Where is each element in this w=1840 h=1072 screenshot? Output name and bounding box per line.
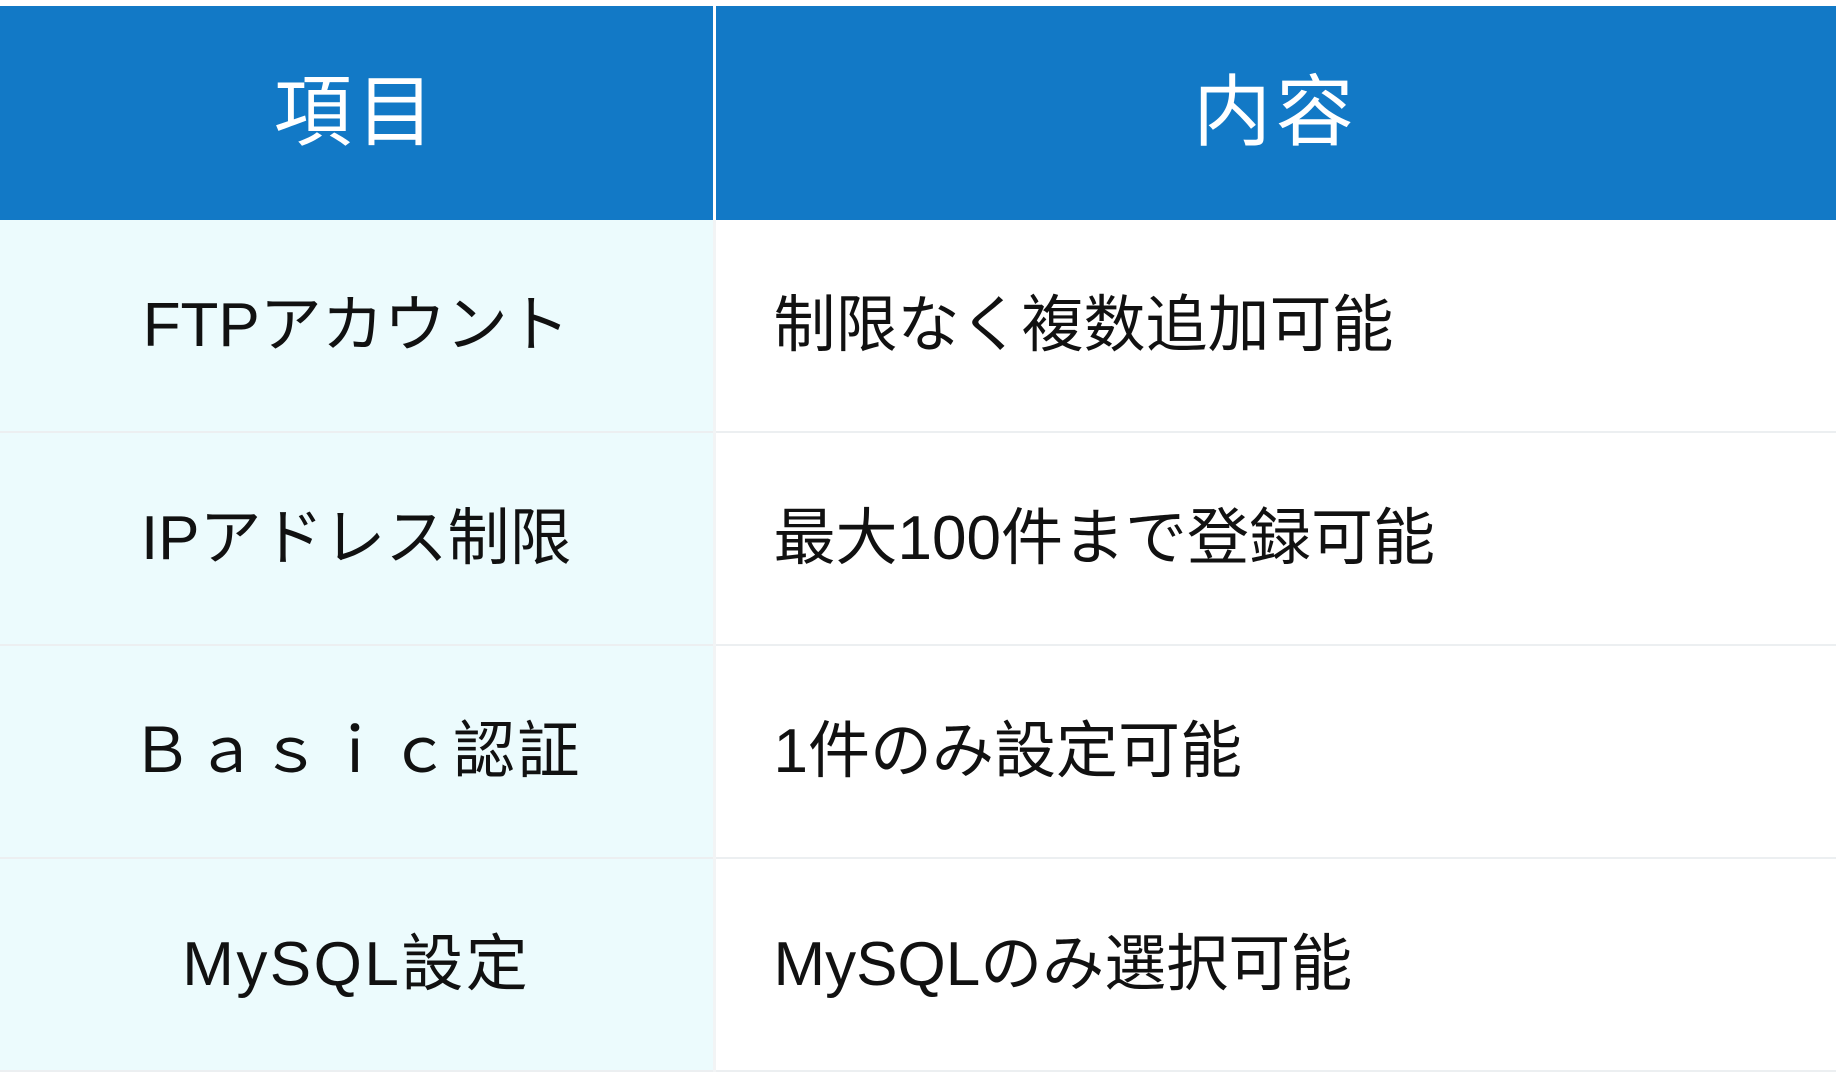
cell-content-text: 制限なく複数追加可能 bbox=[774, 290, 1394, 361]
specification-table: 項目 内容 FTPアカウント 制限なく複数追加可能 IPアドレス制限 最大100… bbox=[0, 6, 1836, 1072]
cell-item-text: FTPアカウント bbox=[143, 290, 570, 361]
table-body: FTPアカウント 制限なく複数追加可能 IPアドレス制限 最大100件まで登録可… bbox=[0, 220, 1836, 1071]
column-header-content: 内容 bbox=[714, 6, 1836, 220]
cell-content: MySQLのみ選択可能 bbox=[714, 858, 1836, 1071]
cell-item: Ｂａｓｉｃ認証 bbox=[0, 645, 714, 858]
cell-content-text: MySQLのみ選択可能 bbox=[774, 929, 1353, 1000]
cell-item: MySQL設定 bbox=[0, 858, 714, 1071]
table-row: Ｂａｓｉｃ認証 1件のみ設定可能 bbox=[0, 645, 1836, 858]
cell-item-text: IPアドレス制限 bbox=[141, 503, 572, 574]
cell-content-text: 最大100件まで登録可能 bbox=[774, 503, 1435, 574]
spec-table-container: 項目 内容 FTPアカウント 制限なく複数追加可能 IPアドレス制限 最大100… bbox=[0, 6, 1836, 1062]
cell-item-text: Ｂａｓｉｃ認証 bbox=[131, 716, 582, 787]
cell-content: 1件のみ設定可能 bbox=[714, 645, 1836, 858]
table-row: FTPアカウント 制限なく複数追加可能 bbox=[0, 220, 1836, 432]
header-row: 項目 内容 bbox=[0, 6, 1836, 220]
cell-item: FTPアカウント bbox=[0, 220, 714, 432]
table-row: MySQL設定 MySQLのみ選択可能 bbox=[0, 858, 1836, 1071]
cell-content: 制限なく複数追加可能 bbox=[714, 220, 1836, 432]
cell-content: 最大100件まで登録可能 bbox=[714, 432, 1836, 645]
table-header: 項目 内容 bbox=[0, 6, 1836, 220]
cell-item-text: MySQL設定 bbox=[182, 929, 530, 1000]
column-header-item: 項目 bbox=[0, 6, 714, 220]
cell-item: IPアドレス制限 bbox=[0, 432, 714, 645]
cell-content-text: 1件のみ設定可能 bbox=[774, 716, 1242, 787]
table-row: IPアドレス制限 最大100件まで登録可能 bbox=[0, 432, 1836, 645]
